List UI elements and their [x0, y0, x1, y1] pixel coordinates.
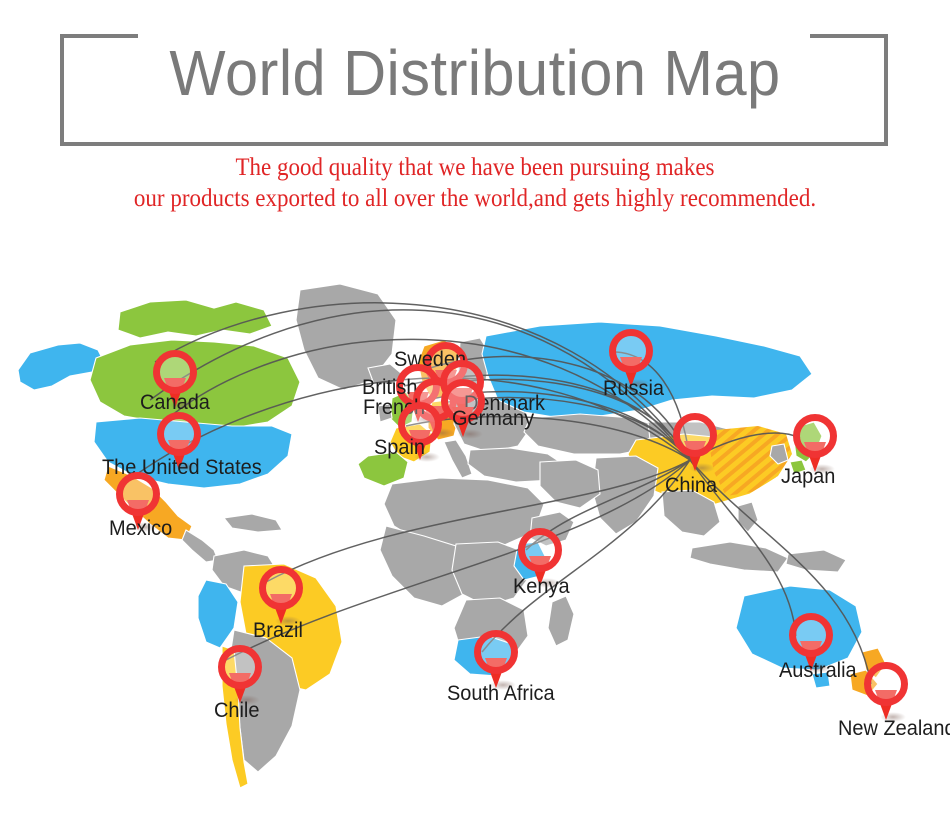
- map-label-south-africa: South Africa: [447, 682, 555, 706]
- map-pin-chile[interactable]: [218, 645, 262, 705]
- pin-ring: [793, 414, 837, 458]
- map-label-chile: Chile: [214, 699, 259, 723]
- pin-ring: [259, 566, 303, 610]
- country-central-america: [182, 530, 218, 562]
- world-distribution-map-page: World Distribution Map The good quality …: [0, 0, 950, 824]
- island-papua: [786, 550, 846, 572]
- title-block: World Distribution Map: [0, 18, 950, 138]
- map-label-germany: Germany: [452, 407, 534, 431]
- pin-ring: [116, 472, 160, 516]
- pin-ring: [474, 630, 518, 674]
- pin-ring: [157, 412, 201, 456]
- map-label-china: China: [665, 474, 717, 498]
- pin-ring: [789, 613, 833, 657]
- map-pin-china[interactable]: [673, 413, 717, 473]
- pin-ring: [218, 645, 262, 689]
- country-india: [592, 456, 658, 534]
- map-label-mexico: Mexico: [109, 517, 172, 541]
- map-label-brazil: Brazil: [253, 619, 303, 643]
- island-caribbean: [224, 514, 282, 532]
- country-peru: [198, 580, 238, 648]
- map-label-kenya: Kenya: [513, 575, 570, 599]
- page-title: World Distribution Map: [33, 38, 917, 108]
- subtitle: The good quality that we have been pursu…: [38, 152, 912, 214]
- island-madagascar: [548, 596, 574, 646]
- pin-ring: [153, 350, 197, 394]
- map-label-spain: Spain: [374, 436, 425, 460]
- map-label-japan: Japan: [781, 465, 835, 489]
- map-label-australia: Australia: [779, 659, 857, 683]
- subtitle-line-2: our products exported to all over the wo…: [38, 183, 912, 214]
- pin-ring: [864, 662, 908, 706]
- pin-ring: [673, 413, 717, 457]
- map-pin-brazil[interactable]: [259, 566, 303, 626]
- country-middle-east: [540, 460, 600, 508]
- map-pin-south-africa[interactable]: [474, 630, 518, 690]
- subtitle-line-1: The good quality that we have been pursu…: [38, 152, 912, 183]
- map-label-russia: Russia: [603, 377, 664, 401]
- map-stage: CanadaThe United StatesMexicoBrazilChile…: [0, 250, 950, 824]
- map-label-new-zealand: New Zealand: [838, 717, 950, 741]
- island-indonesia: [690, 542, 788, 572]
- pin-ring: [518, 528, 562, 572]
- map-pin-new-zealand[interactable]: [864, 662, 908, 722]
- pin-ring: [609, 329, 653, 373]
- country-canada-arctic: [118, 300, 272, 338]
